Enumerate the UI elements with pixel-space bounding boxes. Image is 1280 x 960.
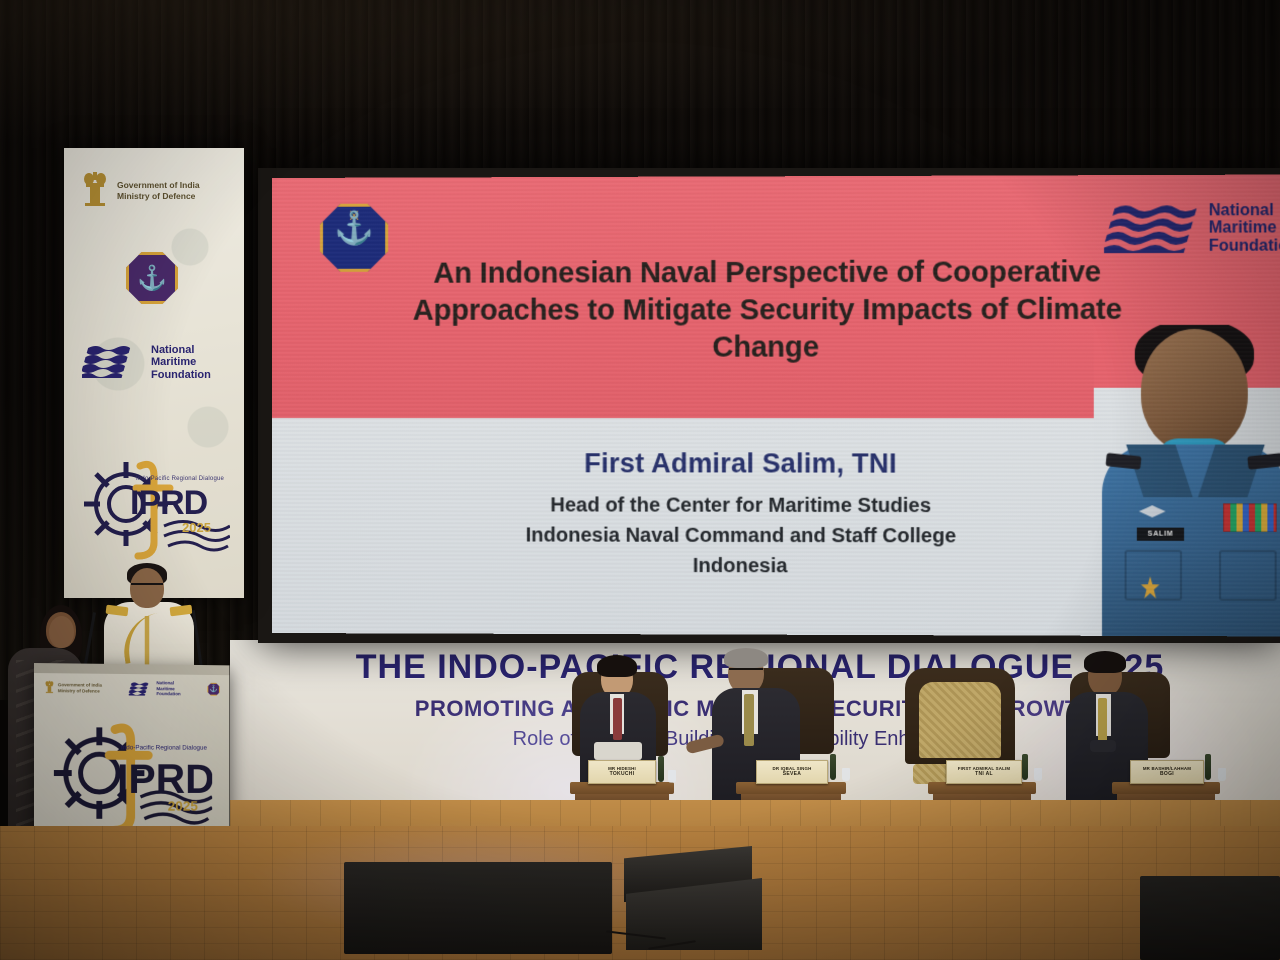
nameplate-panelist-1: MR HIDESHI TOKUCHI xyxy=(588,760,656,784)
nmf-line1: National xyxy=(1209,202,1280,220)
nameplate-panelist-3: FIRST ADMIRAL SALIM TNI AL xyxy=(946,760,1022,784)
uniform-name-tag: SALIM xyxy=(1137,528,1184,541)
nmf-waves-icon xyxy=(82,345,144,379)
nmf-waves-icon xyxy=(129,682,154,696)
podium-gov-line2: Ministry of Defence xyxy=(58,688,102,694)
iprd-wordmark: IPRD xyxy=(130,484,207,523)
podium-gov-text: Government of India Ministry of Defence xyxy=(58,682,102,694)
nmf-logo-text: National Maritime Foundation xyxy=(1209,202,1280,255)
iprd-ships-wheel-anchor-icon: Indo-Pacific Regional Dialogue IPRD 2025 xyxy=(78,448,230,568)
standee-nmf-line2: Maritime xyxy=(151,356,211,368)
water-bottle xyxy=(1205,754,1211,780)
standee-nmf-line1: National xyxy=(151,344,211,356)
water-bottle xyxy=(830,754,836,780)
nmf-waves-icon xyxy=(1104,202,1203,255)
podium-iprd-tagline: Indo-Pacific Regional Dialogue xyxy=(121,744,207,751)
necktie-icon xyxy=(1098,698,1107,746)
water-bottle xyxy=(658,756,664,782)
nameplate-line2: TOKUCHI xyxy=(610,772,635,778)
conference-stage-scene: THE INDO-PACIFIC REGIONAL DIALOGUE 2025 … xyxy=(0,0,1280,960)
projection-screen: ⚔ ⚓ National Maritime Foundation An Indo… xyxy=(272,175,1280,637)
eyeglasses-icon xyxy=(729,668,763,677)
standee-nmf-line3: Foundation xyxy=(151,369,211,381)
nameplate-line2: SEVEA xyxy=(783,772,801,778)
ashoka-pillar-emblem-icon xyxy=(44,680,55,695)
podium-iprd-logo: Indo-Pacific Regional Dialogue IPRD 2025 xyxy=(46,711,212,841)
ashoka-pillar-emblem-icon xyxy=(80,170,110,212)
water-glass xyxy=(668,770,676,783)
nmf-line3: Foundation xyxy=(1209,237,1280,255)
standee-gov-text: Government of India Ministry of Defence xyxy=(117,180,200,203)
speaker-role-line3: Indonesia xyxy=(342,550,1143,582)
speaker-role-line2: Indonesia Naval Command and Staff Colleg… xyxy=(342,520,1143,552)
slide-speaker-name: First Admiral Salim, TNI xyxy=(342,448,1143,480)
papers-icon xyxy=(594,742,642,760)
water-glass xyxy=(1034,768,1042,781)
slide-speaker-role: Head of the Center for Maritime Studies … xyxy=(342,490,1143,582)
standee-gov-line1: Government of India xyxy=(117,180,200,191)
national-maritime-foundation-logo-icon: National Maritime Foundation xyxy=(1104,197,1280,260)
speaker-role-line1: Head of the Center for Maritime Studies xyxy=(342,490,1143,521)
water-glass xyxy=(1218,768,1226,781)
indian-navy-crest-icon: ⚓ xyxy=(207,683,220,696)
slide-title: An Indonesian Naval Perspective of Coope… xyxy=(362,254,1174,367)
slide-speaker-portrait: SALIM xyxy=(1094,325,1280,637)
indian-navy-crest-icon: ⚓ xyxy=(126,252,178,304)
iprd-rollup-standee: Government of India Ministry of Defence … xyxy=(64,148,244,598)
necktie-icon xyxy=(744,694,754,746)
nameplate-panelist-4: MR BASHIR/LAHHAM BOGI xyxy=(1130,760,1204,784)
water-glass xyxy=(842,768,850,781)
iprd-tagline: Indo-Pacific Regional Dialogue xyxy=(136,476,224,482)
nameplate-line2: TNI AL xyxy=(975,772,993,778)
nmf-line2: Maritime xyxy=(1209,220,1280,238)
iprd-year: 2025 xyxy=(182,520,211,535)
nameplate-panelist-2: DR IQBAL SINGH SEVEA xyxy=(756,760,828,784)
stage-monitor-speaker xyxy=(344,862,612,954)
curtain-light-glow xyxy=(0,0,1280,170)
mobile-phone-icon xyxy=(1090,740,1116,752)
stage-monitor-speaker xyxy=(1140,876,1280,960)
podium-iprd-wordmark: IPRD xyxy=(117,755,212,802)
water-bottle xyxy=(1022,754,1028,780)
podium-nmf-text: National Maritime Foundation xyxy=(156,680,180,697)
podium-nmf-line3: Foundation xyxy=(156,692,180,698)
eyeglasses-icon xyxy=(131,583,163,592)
standee-gov-line2: Ministry of Defence xyxy=(117,191,200,202)
nameplate-line2: BOGI xyxy=(1160,772,1174,778)
podium-iprd-year: 2025 xyxy=(168,798,198,814)
standee-nmf-text: National Maritime Foundation xyxy=(151,344,211,381)
necktie-icon xyxy=(613,698,622,740)
uniform-ribbon-bar-icon xyxy=(1223,503,1277,531)
